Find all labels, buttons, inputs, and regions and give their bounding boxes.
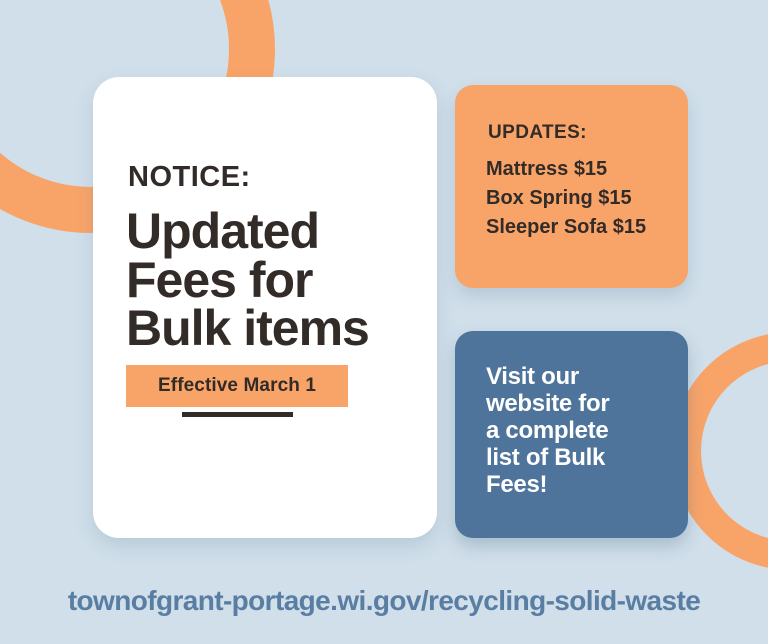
website-cta-line-1: Visit our bbox=[486, 363, 661, 390]
notice-kicker: NOTICE: bbox=[128, 163, 251, 192]
poster-canvas: NOTICE: Updated Fees for Bulk items Effe… bbox=[0, 0, 768, 644]
page-title: Updated Fees for Bulk items bbox=[126, 207, 426, 353]
website-cta-line-3: a complete bbox=[486, 417, 661, 444]
updates-card: UPDATES: Mattress $15 Box Spring $15 Sle… bbox=[455, 85, 688, 288]
headline-line-2: Fees for bbox=[126, 256, 426, 305]
footer-website-url: townofgrant-portage.wi.gov/recycling-sol… bbox=[0, 585, 768, 617]
effective-date-label: Effective March 1 bbox=[158, 375, 316, 397]
website-cta-line-4: list of Bulk bbox=[486, 444, 661, 471]
list-item: Box Spring $15 bbox=[486, 184, 646, 213]
website-cta-card: Visit our website for a complete list of… bbox=[455, 331, 688, 538]
website-cta-text: Visit our website for a complete list of… bbox=[486, 363, 661, 499]
list-item: Sleeper Sofa $15 bbox=[486, 213, 646, 242]
effective-date-badge: Effective March 1 bbox=[126, 365, 348, 407]
headline-line-1: Updated bbox=[126, 207, 426, 256]
website-cta-line-5: Fees! bbox=[486, 471, 661, 498]
list-item: Mattress $15 bbox=[486, 155, 646, 184]
notice-card: NOTICE: Updated Fees for Bulk items Effe… bbox=[93, 77, 437, 538]
headline-line-3: Bulk items bbox=[126, 304, 426, 353]
badge-underline-rule bbox=[182, 412, 293, 417]
updates-title: UPDATES: bbox=[488, 123, 587, 142]
updates-list: Mattress $15 Box Spring $15 Sleeper Sofa… bbox=[486, 155, 646, 242]
website-cta-line-2: website for bbox=[486, 390, 661, 417]
